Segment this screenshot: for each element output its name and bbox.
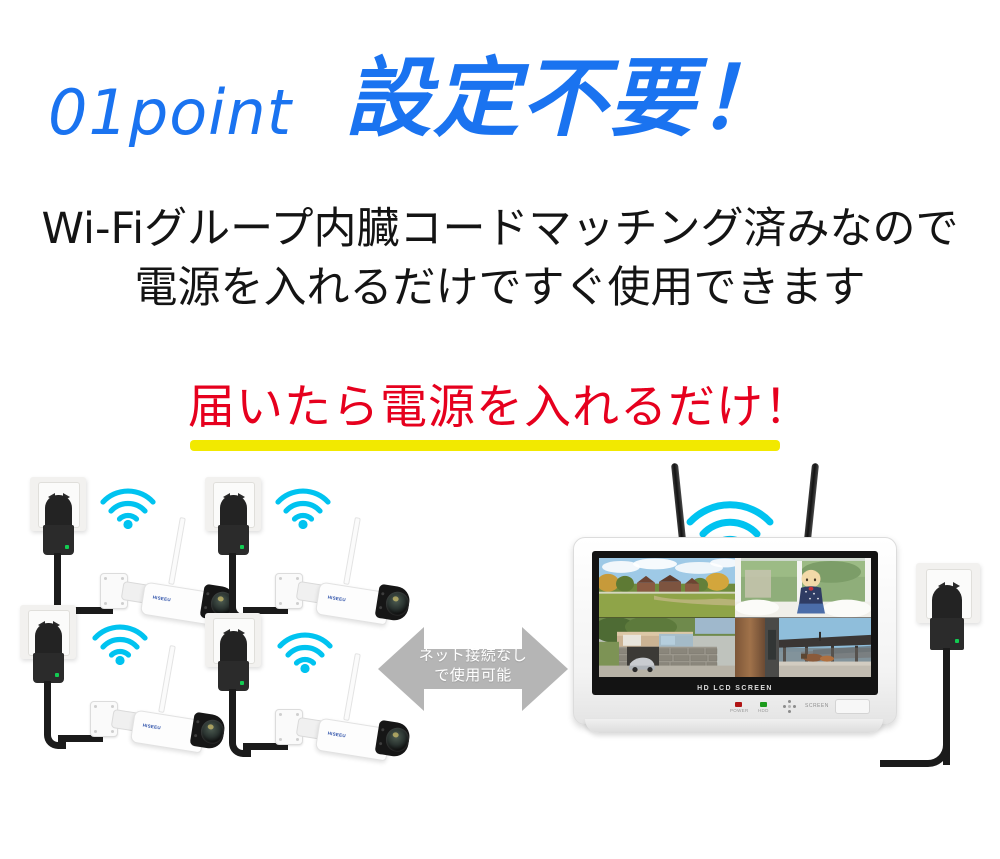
wifi-icon: [96, 483, 160, 529]
wifi-icon: [273, 627, 337, 673]
body-line-1: Wi-Fiグループ内臓コードマッチング済みなので: [0, 200, 1000, 259]
headline-block: 01point 設定不要！: [0, 40, 1000, 150]
wifi-icon: [271, 483, 335, 529]
body-copy: Wi-Fiグループ内臓コードマッチング済みなので 電源を入れるだけですぐ使用でき…: [0, 200, 1000, 319]
hdd-led: [760, 702, 767, 707]
dpad-icon[interactable]: [783, 700, 796, 713]
quadrant-bottom-right[interactable]: [735, 618, 871, 678]
screen-button-label: SCREEN: [805, 703, 829, 709]
monitor-case: HD LCD SCREEN POWER HDD SCREEN: [573, 537, 897, 725]
callout-block: 届いたら電源を入れるだけ！: [0, 383, 1000, 432]
camera-lens: [384, 726, 410, 753]
camera-logo: HISEEU: [142, 723, 163, 733]
quadrant-top-left[interactable]: [599, 558, 735, 618]
camera-antenna: [168, 517, 186, 585]
monitor-brand-label: HD LCD SCREEN: [592, 685, 878, 692]
headline-point-label: 01point: [48, 82, 292, 144]
camera-logo-text: HISEEU: [327, 595, 346, 603]
quadrant-top-right[interactable]: [735, 558, 871, 618]
no-internet-arrow: ネット接続なし で使用可能: [378, 617, 568, 722]
headline-main-title: 設定不要！: [345, 56, 785, 142]
callout-text: 届いたら電源を入れるだけ！: [188, 383, 812, 432]
hdd-led-label: HDD: [758, 708, 769, 713]
power-adapter-head: [45, 495, 72, 529]
monitor-bezel: HD LCD SCREEN: [592, 551, 878, 695]
monitor-control-bar: POWER HDD SCREEN: [592, 696, 878, 718]
quadrant-bottom-left[interactable]: [599, 618, 735, 678]
arrow-label-line-2: で使用可能: [378, 665, 568, 685]
wifi-icon: [88, 619, 152, 665]
body-line-2: 電源を入れるだけですぐ使用できます: [0, 259, 1000, 318]
power-adapter-body: [43, 525, 74, 555]
camera-lens-housing: [375, 720, 412, 759]
power-adapter-body-right: [930, 618, 964, 650]
adapter-led: [55, 673, 59, 677]
camera-logo: HISEEU: [152, 595, 173, 605]
monitor-antenna-left: [671, 463, 686, 541]
camera-antenna: [343, 517, 361, 585]
camera-antenna: [343, 653, 361, 721]
power-adapter-body: [33, 653, 64, 683]
illustration-stage: HISEEU: [0, 455, 1000, 859]
power-adapter-body: [218, 525, 249, 555]
camera-logo-text: HISEEU: [142, 723, 161, 731]
camera-logo: HISEEU: [327, 731, 348, 741]
power-adapter-head: [220, 495, 247, 529]
arrow-label: ネット接続なし で使用可能: [378, 645, 568, 686]
adapter-led: [240, 545, 244, 549]
screen-button[interactable]: [835, 699, 870, 714]
power-led: [735, 702, 742, 707]
power-led-label: POWER: [730, 708, 749, 713]
nvr-monitor: HD LCD SCREEN POWER HDD SCREEN: [565, 455, 905, 805]
arrow-label-line-1: ネット接続なし: [378, 645, 568, 665]
monitor-screen: [599, 558, 871, 677]
adapter-led: [65, 545, 69, 549]
adapter-led: [240, 681, 244, 685]
power-adapter-head: [35, 623, 62, 657]
camera-logo-text: HISEEU: [152, 595, 171, 603]
monitor-stand: [585, 719, 883, 733]
camera-antenna: [158, 645, 176, 713]
camera-logo: HISEEU: [327, 595, 348, 605]
monitor-power-cable-horizontal: [880, 760, 912, 767]
power-adapter-body: [218, 661, 249, 691]
yellow-marker-bar: [190, 440, 780, 451]
adapter-led-right: [955, 639, 959, 643]
monitor-antenna-right: [804, 463, 819, 541]
camera-logo-text: HISEEU: [327, 731, 346, 739]
power-adapter-head: [220, 631, 247, 665]
